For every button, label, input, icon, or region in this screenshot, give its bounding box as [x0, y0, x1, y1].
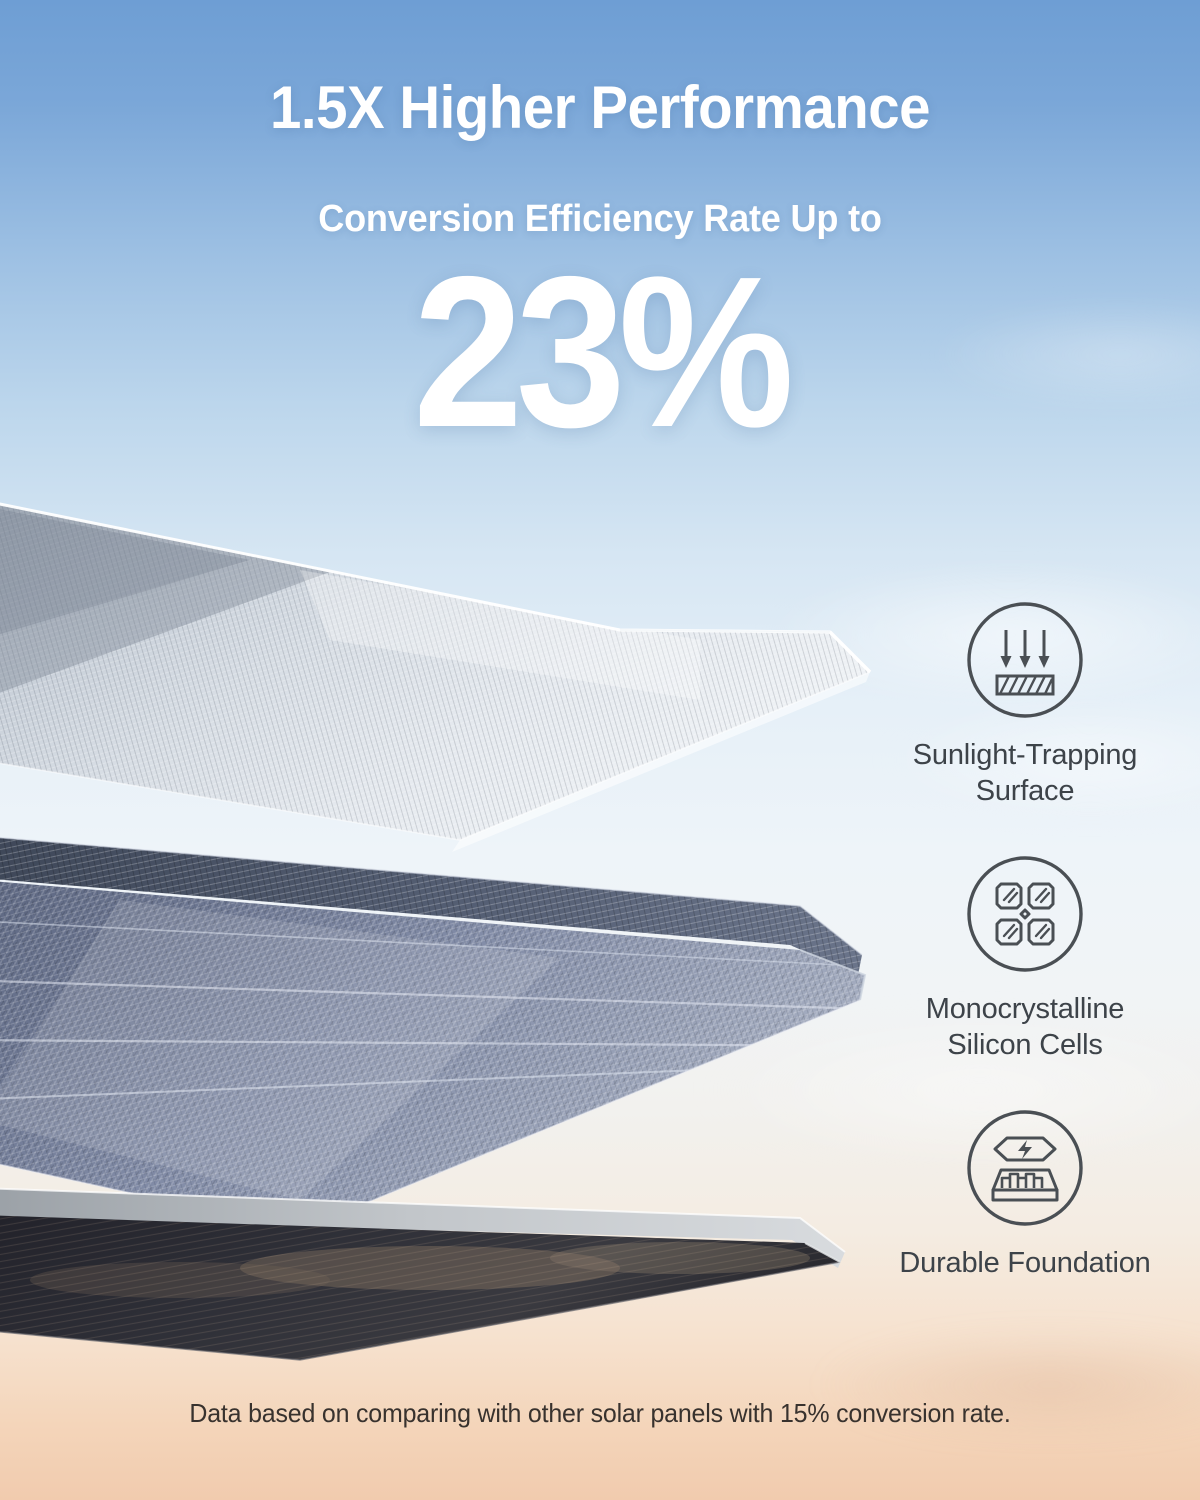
poster-canvas: 1.5X Higher Performance Conversion Effic… — [0, 0, 1200, 1500]
feature-item-durable-foundation: Durable Foundation — [860, 1106, 1190, 1282]
feature-label: Durable Foundation — [860, 1246, 1190, 1282]
feature-list: Sunlight-Trapping Surface — [860, 598, 1190, 1282]
footer-disclaimer: Data based on comparing with other solar… — [24, 1398, 1176, 1429]
durable-foundation-icon — [963, 1106, 1087, 1230]
sunlight-trapping-surface-layer — [0, 500, 870, 852]
monocrystalline-cell-layer — [0, 836, 900, 1230]
feature-label: Monocrystalline Silicon Cells — [860, 992, 1190, 1064]
feature-item-monocrystalline-silicon-cells: Monocrystalline Silicon Cells — [860, 852, 1190, 1064]
feature-item-sunlight-trapping-surface: Sunlight-Trapping Surface — [860, 598, 1190, 810]
hero-text-block: 1.5X Higher Performance Conversion Effic… — [0, 0, 1200, 459]
sunlight-trapping-surface-icon — [963, 598, 1087, 722]
durable-foundation-layer — [0, 1188, 845, 1360]
feature-label: Sunlight-Trapping Surface — [860, 738, 1190, 810]
monocrystalline-silicon-cells-icon — [963, 852, 1087, 976]
page-title: 1.5X Higher Performance — [36, 0, 1164, 138]
hero-subheadline: Conversion Efficiency Rate Up to — [30, 138, 1170, 238]
hero-big-number: 23% — [48, 238, 1152, 459]
